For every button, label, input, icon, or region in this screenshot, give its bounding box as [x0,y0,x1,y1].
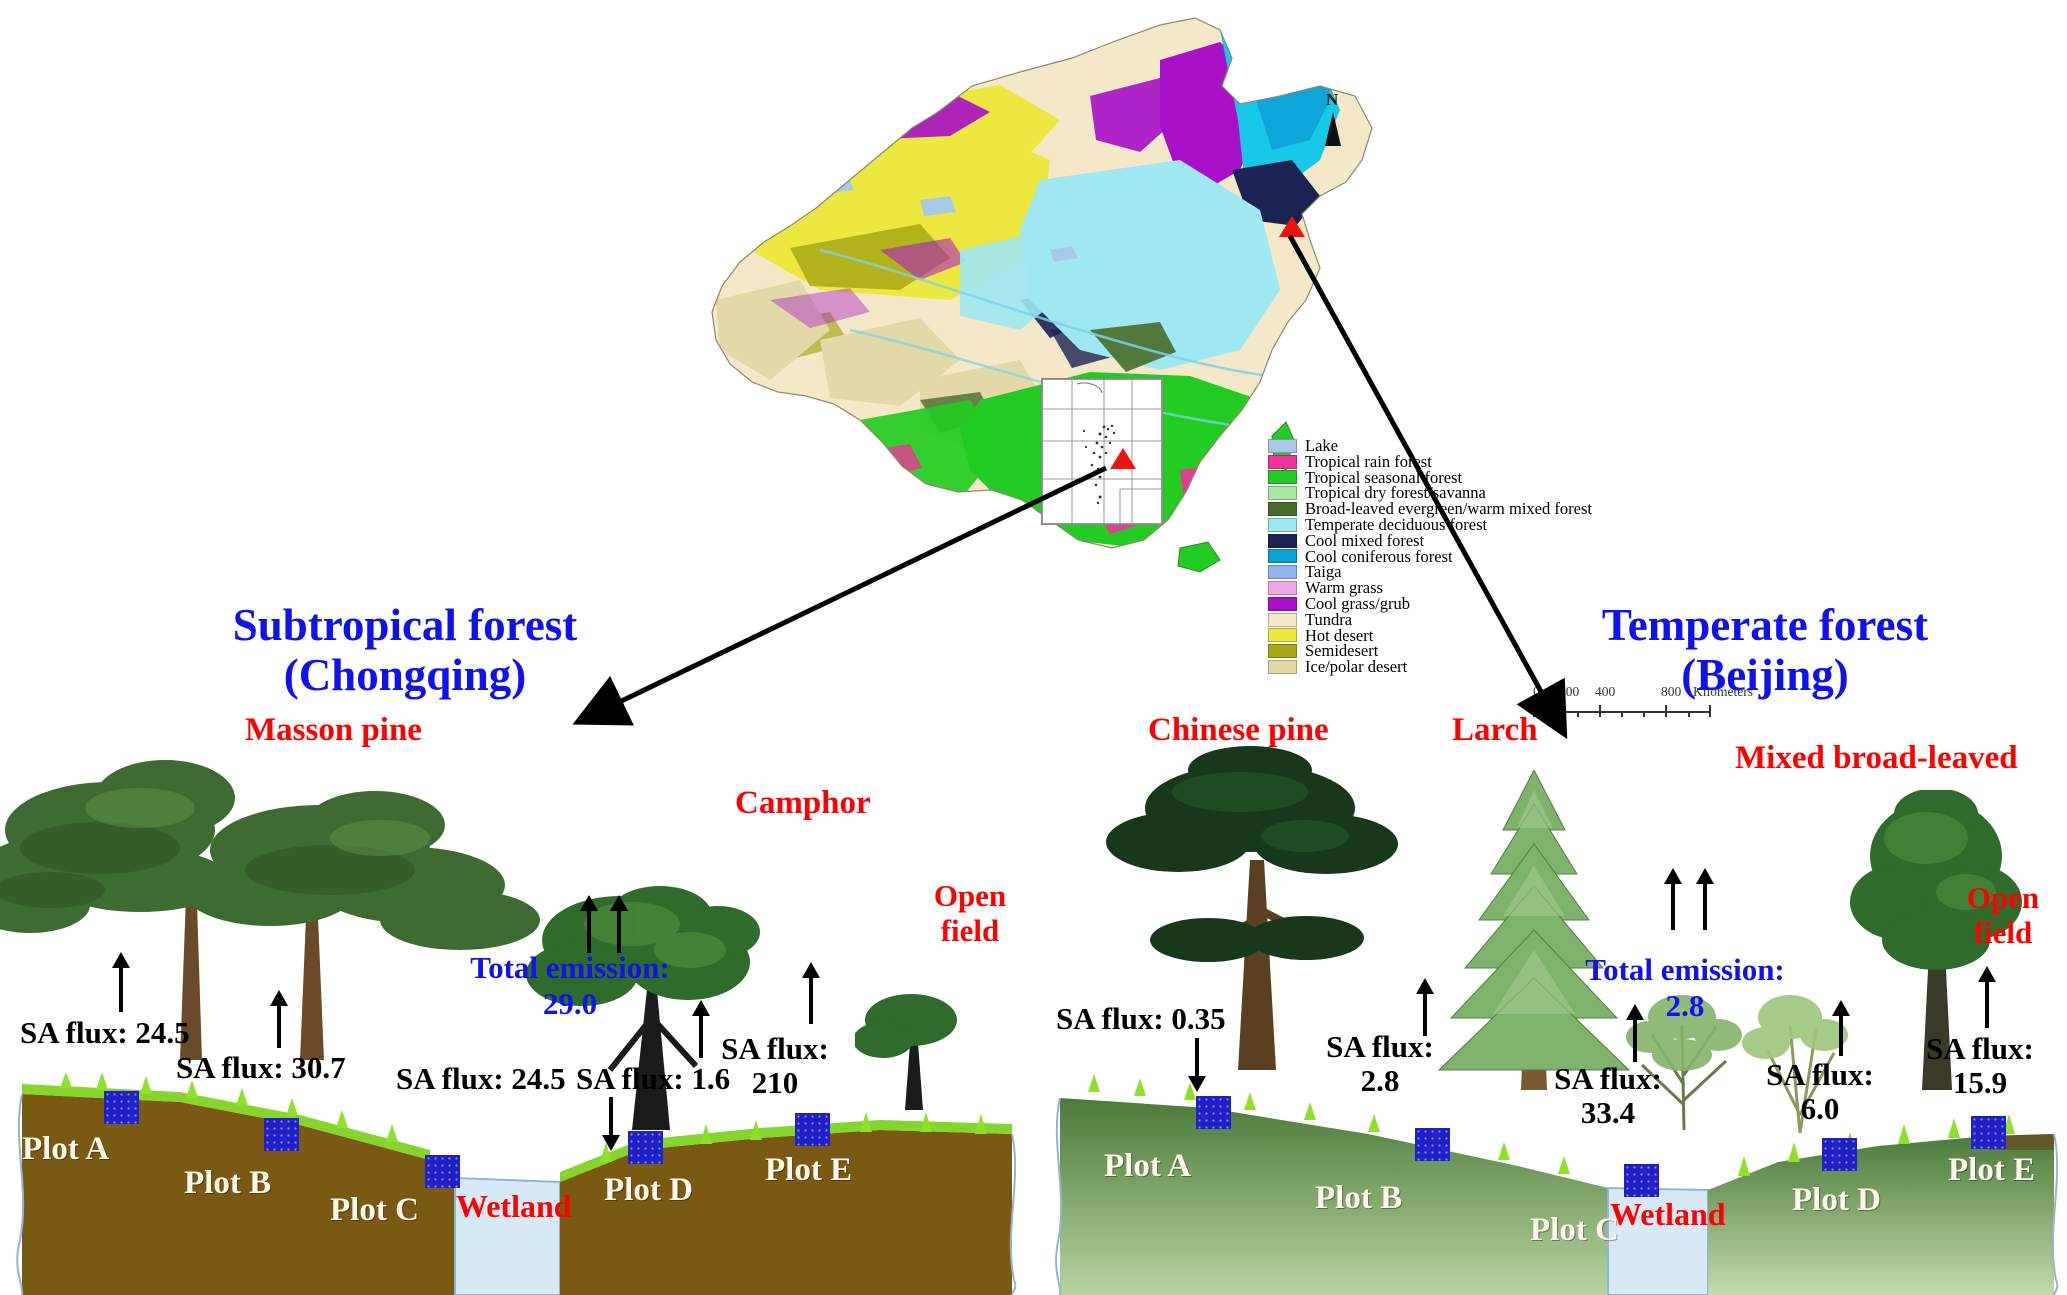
flux-label-right-plot-d-line1: SA flux: [1730,1058,1910,1092]
site-marker-beijing [1279,216,1305,237]
flux-label-right-plot-e: SA flux: 15.9 [1890,1032,2067,1100]
right-region-title-line2: (Beijing) [1555,650,1975,700]
scale-mark [1688,711,1690,717]
right-total-emission-arrow-2 [1694,868,1716,930]
plot-label-left-e: Plot E [765,1152,852,1189]
left-total-emission-value: 29.0 [430,986,710,1022]
species-label-mixed-broad-leaved: Mixed broad-leaved [1735,740,2018,777]
flux-label-right-plot-e-line1: SA flux: [1890,1032,2067,1066]
map-legend: Lake Tropical rain forest Tropical seaso… [1268,438,1592,675]
plot-label-left-b: Plot B [184,1165,271,1202]
right-wetland-label: Wetland [1610,1196,1726,1233]
scale-mark [1709,705,1711,717]
plot-label-right-d: Plot D [1792,1182,1881,1219]
plot-label-right-b: Plot B [1315,1180,1402,1217]
legend-label: Ice/polar desert [1305,659,1407,675]
scale-mark [1599,705,1601,717]
north-triangle-icon [1325,112,1341,146]
beijing-district-inset-map [1041,378,1163,525]
right-total-emission: Total emission: 2.8 [1540,952,1830,1024]
flux-label-right-plot-c-line1: SA flux: [1518,1062,1698,1096]
flux-label-right-plot-c: SA flux: 33.4 [1518,1062,1698,1130]
flux-label-left-plot-b: SA flux: 30.7 [176,1051,346,1085]
sensor-chamber-left-plot-a[interactable] [104,1091,139,1124]
right-total-emission-value: 2.8 [1540,988,1830,1024]
legend-swatch-warm-grass [1268,581,1297,595]
flux-label-left-plot-e-line1: SA flux: [700,1032,850,1066]
scale-tick-0: 0 [1533,684,1540,700]
flux-label-right-plot-a: SA flux: 0.35 [1056,1002,1226,1036]
plot-label-right-c: Plot C [1530,1212,1619,1249]
plot-label-left-c: Plot C [330,1192,419,1229]
site-marker-chongqing [1110,448,1136,469]
flux-label-right-plot-b-line2: 2.8 [1300,1064,1460,1098]
flux-label-left-plot-c: SA flux: 24.5 [396,1062,566,1096]
sensor-chamber-left-plot-e[interactable] [795,1113,830,1146]
sensor-chamber-left-plot-c[interactable] [425,1155,460,1188]
right-open-field-line2: field [1938,915,2067,950]
sensor-chamber-right-plot-e[interactable] [1971,1116,2006,1149]
legend-swatch-tundra [1268,613,1297,627]
sensor-chamber-left-plot-b[interactable] [264,1118,299,1151]
scale-mark [1577,711,1579,717]
left-open-field-label: Open field [905,878,1035,948]
plot-label-left-d: Plot D [604,1172,693,1209]
scale-mark [1665,705,1667,717]
legend-swatch-cool-grass-grub [1268,597,1297,611]
legend-swatch-cool-coniferous-forest [1268,549,1297,563]
left-wetland-label: Wetland [456,1188,572,1225]
flux-arrow-up-left-plot-e [800,962,822,1024]
left-open-field-line1: Open [905,878,1035,913]
sensor-chamber-right-plot-c[interactable] [1624,1164,1659,1197]
north-label: N [1326,90,1338,110]
left-open-field-line2: field [905,913,1035,948]
right-total-emission-label: Total emission: [1540,952,1830,988]
species-label-larch: Larch [1452,712,1538,749]
left-region-title: Subtropical forest (Chongqing) [195,600,615,700]
flux-arrow-up-left-plot-b [268,990,290,1048]
sensor-chamber-right-plot-d[interactable] [1822,1138,1857,1171]
left-region-title-line2: (Chongqing) [195,650,615,700]
sensor-chamber-right-plot-b[interactable] [1415,1128,1450,1161]
scale-mark [1643,711,1645,717]
flux-label-left-plot-e: SA flux: 210 [700,1032,850,1100]
legend-swatch-ice-polar-desert [1268,660,1297,674]
legend-swatch-temperate-deciduous-forest [1268,518,1297,532]
right-region-title: Temperate forest (Beijing) [1555,600,1975,700]
flux-label-right-plot-d: SA flux: 6.0 [1730,1058,1910,1126]
legend-swatch-hot-desert [1268,628,1297,642]
flux-arrow-up-right-plot-d [1830,1000,1852,1056]
flux-label-right-plot-c-line2: 33.4 [1518,1096,1698,1130]
legend-swatch-cool-mixed-forest [1268,534,1297,548]
scale-mark [1621,711,1623,717]
legend-swatch-tropical-rain-forest [1268,455,1297,469]
right-total-emission-arrow-1 [1662,868,1684,930]
north-arrow-icon: N [1320,90,1346,160]
legend-swatch-taiga [1268,565,1297,579]
legend-swatch-tropical-dry-forest [1268,486,1297,500]
flux-label-left-plot-e-line2: 210 [700,1066,850,1100]
left-total-emission-arrow-1 [578,895,600,953]
plot-label-right-e: Plot E [1948,1152,2035,1189]
right-open-field-label: Open field [1938,880,2067,950]
left-total-emission-arrow-2 [608,895,630,953]
legend-swatch-tropical-seasonal-forest [1268,470,1297,484]
legend-swatch-semidesert [1268,644,1297,658]
legend-swatch-broad-leaved-evergreen [1268,502,1297,516]
legend-item: Ice/polar desert [1268,659,1592,675]
right-open-field-line1: Open [1938,880,2067,915]
left-region-title-line1: Subtropical forest [195,600,615,650]
left-total-emission-label: Total emission: [430,950,710,986]
scale-mark [1555,711,1557,717]
flux-label-right-plot-b: SA flux: 2.8 [1300,1030,1460,1098]
flux-label-left-plot-a: SA flux: 24.5 [20,1016,190,1050]
flux-arrow-up-right-plot-e [1976,966,1998,1028]
flux-arrow-down-right-plot-a [1186,1038,1208,1092]
sensor-chamber-left-plot-d[interactable] [628,1131,663,1164]
legend-swatch-lake [1268,439,1297,453]
flux-arrow-down-left-plot-c [600,1097,622,1151]
flux-arrow-up-left-plot-a [110,952,132,1012]
left-total-emission: Total emission: 29.0 [430,950,710,1022]
sensor-chamber-right-plot-a[interactable] [1196,1096,1231,1129]
flux-label-right-plot-b-line1: SA flux: [1300,1030,1460,1064]
plot-label-left-a: Plot A [22,1131,109,1168]
plot-label-right-a: Plot A [1104,1148,1191,1185]
flux-label-right-plot-d-line2: 6.0 [1730,1092,1910,1126]
species-label-camphor: Camphor [735,785,871,822]
right-region-title-line1: Temperate forest [1555,600,1975,650]
china-vegetation-map-panel: N Lake Tropical rain forest Tropical sea… [620,0,1450,730]
flux-arrow-up-right-plot-b [1414,978,1436,1036]
flux-label-right-plot-e-line2: 15.9 [1890,1066,2067,1100]
